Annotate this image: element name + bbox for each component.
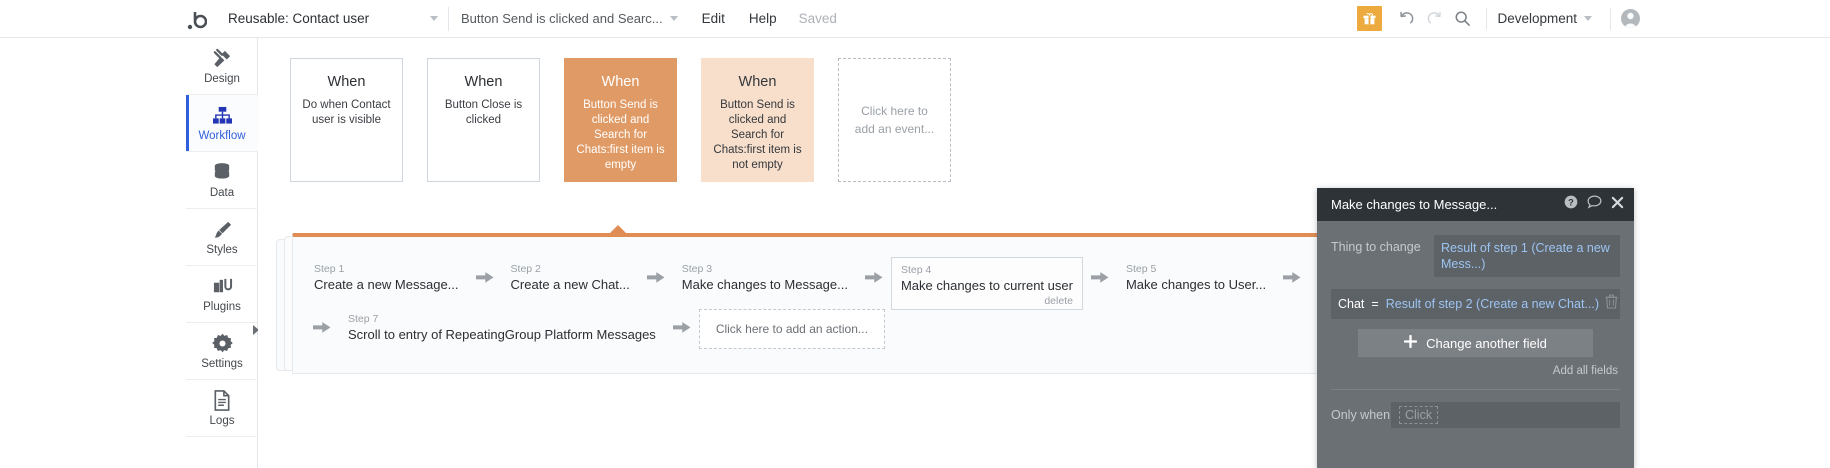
steps-row-1: Step 1 Create a new Message... Step 2 Cr… [305,257,1449,310]
event-when-label: When [301,73,392,92]
chevron-down-icon [670,16,678,21]
sidebar-item-settings[interactable]: Settings [186,323,258,380]
sidebar-item-label: Styles [206,244,237,256]
step-name: Scroll to entry of RepeatingGroup Platfo… [348,326,656,344]
step-number: Step 5 [1126,263,1266,276]
help-circle-icon[interactable]: ? [1564,195,1578,214]
event-when-label: When [575,73,666,92]
arrow-right-icon [1083,257,1117,297]
sidebar-item-label: Design [204,73,240,85]
gift-icon[interactable] [1357,6,1382,31]
comment-bubble-icon[interactable] [1587,195,1602,214]
sidebar-item-label: Plugins [203,301,241,313]
step-item[interactable]: Step 5 Make changes to User... [1117,257,1275,298]
svg-text:?: ? [1568,198,1574,208]
event-when-label: When [438,73,529,92]
arrow-right-icon [665,307,699,347]
top-bar-right: Development [1357,0,1830,38]
avatar[interactable] [1621,9,1640,28]
arrow-right-icon [1275,257,1309,297]
step-name: Make changes to current user [901,277,1073,295]
document-lines-icon [213,390,231,412]
event-when-label: When [712,73,803,92]
paintbrush-icon [212,219,233,241]
arrow-right-icon [857,257,891,297]
event-card[interactable]: When Do when Contact user is visible [290,58,403,182]
event-cards-row: When Do when Contact user is visible Whe… [290,58,951,182]
sidebar-item-data[interactable]: Data [186,152,258,209]
sidebar-item-label: Workflow [198,130,245,142]
workflow-selector-label: Button Send is clicked and Searc... [461,11,663,26]
divider [1610,8,1611,30]
arrow-right-icon [468,257,502,297]
field-change-row: Chat = Result of step 2 (Create a new Ch… [1331,289,1620,319]
step-number: Step 1 [314,263,459,276]
property-panel-title: Make changes to Message... [1331,197,1497,212]
field-equals: = [1371,297,1378,311]
action-property-panel: Make changes to Message... ? Thing to ch… [1317,188,1634,468]
only-when-placeholder: Click [1399,406,1438,424]
divider [1486,8,1487,30]
sidebar-item-plugins[interactable]: Plugins [186,266,258,323]
step-name: Create a new Chat... [511,276,630,294]
sidebar-item-styles[interactable]: Styles [186,209,258,266]
delete-step-link[interactable]: delete [901,295,1073,307]
property-panel-body: Thing to change Result of step 1 (Create… [1317,221,1634,390]
change-another-field-button[interactable]: Change another field [1358,329,1593,357]
event-description: Button Close is clicked [438,98,529,128]
bubble-logo-icon[interactable] [186,7,208,31]
only-when-label: Only when [1331,408,1391,422]
environment-selector[interactable]: Development [1497,11,1592,26]
steps-row-2: Step 7 Scroll to entry of RepeatingGroup… [305,307,885,349]
arrow-right-icon [639,257,673,297]
workflow-selector[interactable]: Button Send is clicked and Searc... [449,7,690,31]
sidebar-item-design[interactable]: Design [186,38,258,95]
left-sidebar: Design Workflow Data Styles Plugins [186,38,258,468]
thing-to-change-label: Thing to change [1331,235,1434,254]
event-card-selected[interactable]: When Button Send is clicked and Search f… [564,58,677,182]
trash-icon[interactable] [1599,294,1618,314]
top-bar: Reusable: Contact user Button Send is cl… [0,0,1830,38]
plug-icon [212,276,233,298]
step-item[interactable]: Step 2 Create a new Chat... [502,257,639,298]
only-when-row: Only when Click [1317,390,1634,428]
thing-to-change-value[interactable]: Result of step 1 (Create a new Mess...) [1434,235,1620,277]
sidebar-item-label: Logs [210,415,235,427]
step-number: Step 4 [901,264,1073,277]
step-item[interactable]: Step 1 Create a new Message... [305,257,468,298]
gear-icon [212,333,233,355]
add-event-placeholder[interactable]: Click here to add an event... [838,58,951,182]
database-icon [212,162,232,184]
sidebar-item-label: Data [210,187,234,199]
change-another-field-label: Change another field [1426,336,1547,351]
chevron-down-icon [1584,16,1592,21]
sidebar-item-logs[interactable]: Logs [186,380,258,437]
event-description: Button Send is clicked and Search for Ch… [575,98,666,173]
design-tools-icon [212,48,233,70]
property-panel-header: Make changes to Message... ? [1317,188,1634,221]
step-number: Step 2 [511,263,630,276]
field-key[interactable]: Chat [1338,297,1364,311]
step-name: Create a new Message... [314,276,459,294]
step-item[interactable]: Step 3 Make changes to Message... [673,257,857,298]
app-name-selector[interactable]: Reusable: Contact user [208,7,448,31]
environment-label: Development [1497,11,1577,26]
field-value[interactable]: Result of step 2 (Create a new Chat...) [1386,297,1599,311]
property-panel-header-icons: ? [1564,195,1624,214]
save-status: Saved [789,11,847,26]
sidebar-item-workflow[interactable]: Workflow [186,95,258,152]
add-action-placeholder[interactable]: Click here to add an action... [699,309,885,349]
event-description: Do when Contact user is visible [301,98,392,128]
event-card[interactable]: When Button Close is clicked [427,58,540,182]
step-name: Make changes to User... [1126,276,1266,294]
sidebar-item-label: Settings [201,358,243,370]
add-event-label: Click here to add an event... [853,102,936,138]
edit-menu[interactable]: Edit [690,11,737,26]
event-card[interactable]: When Button Send is clicked and Search f… [701,58,814,182]
search-icon[interactable] [1448,5,1476,33]
plus-icon [1404,335,1417,351]
workflow-tree-icon [212,105,233,127]
close-icon[interactable] [1611,196,1624,214]
event-description: Button Send is clicked and Search for Ch… [712,98,803,173]
step-item[interactable]: Step 7 Scroll to entry of RepeatingGroup… [339,307,665,348]
step-number: Step 3 [682,263,848,276]
undo-icon[interactable] [1392,5,1420,33]
step-number: Step 7 [348,313,656,326]
redo-icon [1420,5,1448,33]
step-item-hovered[interactable]: Step 4 Make changes to current user dele… [891,257,1083,310]
add-all-fields-link[interactable]: Add all fields [1331,365,1618,377]
selected-event-pointer [609,225,627,234]
app-name-label: Reusable: Contact user [228,11,369,26]
thing-to-change-row: Thing to change Result of step 1 (Create… [1331,235,1620,277]
chevron-down-icon [430,16,438,21]
help-menu[interactable]: Help [737,11,789,26]
arrow-right-icon [305,307,339,347]
step-name: Make changes to Message... [682,276,848,294]
bubble-editor-window: Reusable: Contact user Button Send is cl… [0,0,1830,468]
only-when-input[interactable]: Click [1391,402,1620,428]
